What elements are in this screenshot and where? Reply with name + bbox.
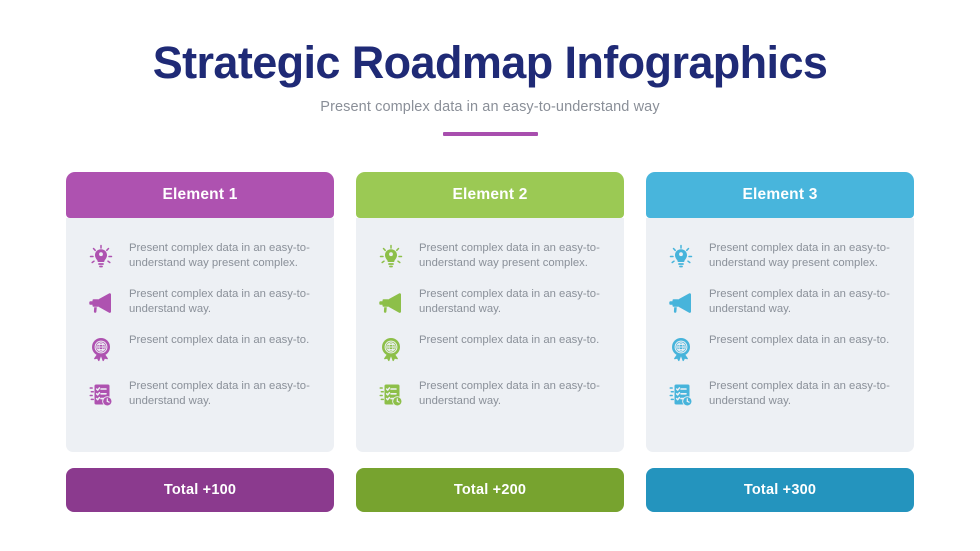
list-item-text: Present complex data in an easy-to-under…	[709, 378, 894, 410]
column-total-3: Total +300	[744, 482, 816, 498]
megaphone-icon	[86, 286, 116, 320]
column-title-3: Element 3	[742, 186, 817, 204]
page-subtitle: Present complex data in an easy-to-under…	[0, 99, 980, 115]
element-column-2: Element 2	[356, 172, 624, 512]
list-item-text: Present complex data in an easy-to-under…	[709, 286, 894, 318]
list-item: Present complex data in an easy-to.	[86, 332, 314, 366]
list-item: Present complex data in an easy-to-under…	[376, 378, 604, 412]
list-item-text: Present complex data in an easy-to-under…	[419, 378, 604, 410]
column-footer-1[interactable]: Total +100	[66, 468, 334, 512]
column-body-3: Present complex data in an easy-to-under…	[646, 218, 914, 452]
column-total-2: Total +200	[454, 482, 526, 498]
element-column-1: Element 1	[66, 172, 334, 512]
column-body-2: Present complex data in an easy-to-under…	[356, 218, 624, 452]
list-item-text: Present complex data in an easy-to.	[129, 332, 309, 348]
list-item-text: Present complex data in an easy-to-under…	[129, 378, 314, 410]
list-item: Present complex data in an easy-to-under…	[86, 286, 314, 320]
column-header-3[interactable]: Element 3	[646, 172, 914, 218]
column-header-1[interactable]: Element 1	[66, 172, 334, 218]
lightbulb-icon	[86, 240, 116, 274]
page-title: Strategic Roadmap Infographics	[0, 38, 980, 88]
list-item-text: Present complex data in an easy-to-under…	[129, 240, 314, 272]
column-title-2: Element 2	[452, 186, 527, 204]
column-footer-3[interactable]: Total +300	[646, 468, 914, 512]
list-item-text: Present complex data in an easy-to-under…	[419, 286, 604, 318]
column-title-1: Element 1	[162, 186, 237, 204]
lightbulb-icon	[666, 240, 696, 274]
lightbulb-icon	[376, 240, 406, 274]
list-item: Present complex data in an easy-to-under…	[86, 240, 314, 274]
list-item: Present complex data in an easy-to-under…	[666, 286, 894, 320]
checklist-clock-icon	[376, 378, 406, 412]
megaphone-icon	[376, 286, 406, 320]
accent-divider	[443, 132, 538, 136]
list-item-text: Present complex data in an easy-to-under…	[129, 286, 314, 318]
list-item-text: Present complex data in an easy-to.	[709, 332, 889, 348]
globe-badge-icon	[666, 332, 696, 366]
column-footer-2[interactable]: Total +200	[356, 468, 624, 512]
list-item: Present complex data in an easy-to.	[376, 332, 604, 366]
list-item-text: Present complex data in an easy-to.	[419, 332, 599, 348]
megaphone-icon	[666, 286, 696, 320]
list-item: Present complex data in an easy-to-under…	[86, 378, 314, 412]
element-columns: Element 1	[66, 172, 914, 512]
list-item: Present complex data in an easy-to-under…	[666, 240, 894, 274]
page-header: Strategic Roadmap Infographics Present c…	[0, 38, 980, 136]
list-item: Present complex data in an easy-to.	[666, 332, 894, 366]
element-column-3: Element 3	[646, 172, 914, 512]
checklist-clock-icon	[86, 378, 116, 412]
list-item: Present complex data in an easy-to-under…	[666, 378, 894, 412]
list-item: Present complex data in an easy-to-under…	[376, 240, 604, 274]
list-item: Present complex data in an easy-to-under…	[376, 286, 604, 320]
globe-badge-icon	[86, 332, 116, 366]
globe-badge-icon	[376, 332, 406, 366]
column-header-2[interactable]: Element 2	[356, 172, 624, 218]
column-total-1: Total +100	[164, 482, 236, 498]
column-body-1: Present complex data in an easy-to-under…	[66, 218, 334, 452]
list-item-text: Present complex data in an easy-to-under…	[709, 240, 894, 272]
checklist-clock-icon	[666, 378, 696, 412]
list-item-text: Present complex data in an easy-to-under…	[419, 240, 604, 272]
